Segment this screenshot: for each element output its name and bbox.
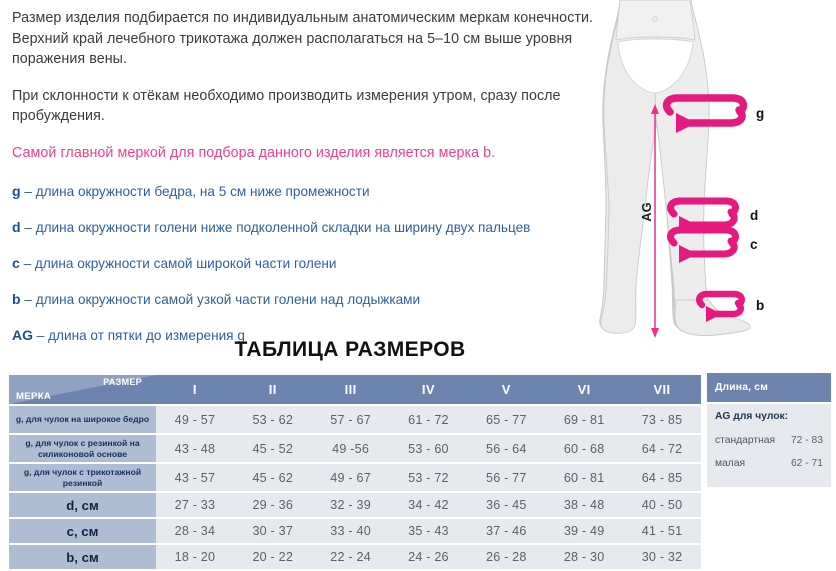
table-row: d, см 27 - 33 29 - 36 32 - 39 34 - 42 36… (9, 493, 701, 517)
table-cell: 41 - 51 (623, 519, 701, 543)
highlight-note: Самой главной меркой для подбора данного… (12, 143, 612, 164)
instructions-text-column: Размер изделия подбирается по индивидуал… (12, 8, 612, 362)
table-cell: 18 - 20 (156, 545, 234, 569)
table-cell: 22 - 24 (312, 545, 390, 569)
table-cell: 60 - 81 (545, 464, 623, 491)
row-label: c, см (9, 519, 156, 543)
table-cell: 37 - 46 (467, 519, 545, 543)
row-label: g, для чулок с трикотажной резинкой (9, 464, 156, 491)
table-cell: 43 - 57 (156, 464, 234, 491)
table-cell: 53 - 72 (390, 464, 468, 491)
definition-dash-g: – (24, 184, 32, 199)
page-title: ТАБЛИЦА РАЗМЕРОВ (0, 338, 700, 362)
row-label: d, см (9, 493, 156, 517)
table-cell: 27 - 33 (156, 493, 234, 517)
table-cell: 45 - 62 (234, 464, 312, 491)
definition-item-c: c – длина окружности самой широкой части… (12, 254, 612, 273)
intro-paragraph-2: При склонности к отёкам необходимо произ… (12, 86, 612, 127)
intro-paragraph-1: Размер изделия подбирается по индивидуал… (12, 8, 612, 70)
table-cell: 38 - 48 (545, 493, 623, 517)
definition-dash-d: – (24, 220, 32, 235)
table-cell: 35 - 43 (390, 519, 468, 543)
table-cell: 73 - 85 (623, 406, 701, 433)
length-row-name: стандартная (715, 435, 775, 446)
table-cell: 28 - 30 (545, 545, 623, 569)
figure-legs (601, 0, 750, 336)
definition-key-b: b (12, 291, 21, 307)
table-cell: 64 - 85 (623, 464, 701, 491)
table-header-row: РАЗМЕР МЕРКА I II III IV V VI VII (9, 375, 701, 404)
definition-key-d: d (12, 219, 21, 235)
definition-key-c: c (12, 255, 20, 271)
definition-item-d: d – длина окружности голени ниже подколе… (12, 218, 612, 237)
measurement-definitions: g – длина окружности бедра, на 5 см ниже… (12, 182, 612, 345)
table-cell: 56 - 77 (467, 464, 545, 491)
row-label: b, см (9, 545, 156, 569)
length-panel-header: Длина, см (707, 373, 831, 402)
definition-dash-c: – (24, 256, 32, 271)
column-header-2: II (234, 375, 312, 404)
definition-text-g: длина окружности бедра, на 5 см ниже про… (36, 184, 370, 199)
figure-label-g: g (756, 106, 764, 121)
table-cell: 60 - 68 (545, 435, 623, 462)
table-row: g, для чулок с трикотажной резинкой 43 -… (9, 464, 701, 491)
table-cell: 39 - 49 (545, 519, 623, 543)
row-label: g, для чулок на широкое бедро (9, 406, 156, 433)
row-label: g, для чулок с резинкой на силиконовой о… (9, 435, 156, 462)
length-panel: Длина, см AG для чулок: стандартная 72 -… (707, 373, 831, 487)
table-cell: 24 - 26 (390, 545, 468, 569)
table-cell: 34 - 42 (390, 493, 468, 517)
table-cell: 26 - 28 (467, 545, 545, 569)
corner-label-size: РАЗМЕР (103, 377, 142, 387)
table-cell: 49 - 67 (312, 464, 390, 491)
leg-measurement-diagram: AG g d c b (598, 0, 836, 345)
column-header-4: IV (390, 375, 468, 404)
table-cell: 40 - 50 (623, 493, 701, 517)
corner-label-measure: МЕРКА (16, 391, 51, 402)
length-row-value: 72 - 83 (791, 435, 823, 446)
figure-label-b: b (756, 298, 764, 313)
table-cell: 36 - 45 (467, 493, 545, 517)
definition-text-c: длина окружности самой широкой части гол… (35, 256, 337, 271)
table-cell: 49 -56 (312, 435, 390, 462)
size-table: РАЗМЕР МЕРКА I II III IV V VI VII g, для… (9, 373, 701, 571)
corner-header-cell: РАЗМЕР МЕРКА (9, 375, 156, 404)
table-cell: 30 - 37 (234, 519, 312, 543)
length-panel-title: AG для чулок: (715, 411, 823, 422)
table-cell: 53 - 60 (390, 435, 468, 462)
definition-dash-b: – (24, 292, 32, 307)
table-cell: 64 - 72 (623, 435, 701, 462)
table-cell: 29 - 36 (234, 493, 312, 517)
column-header-5: V (467, 375, 545, 404)
length-row-small: малая 62 - 71 (715, 458, 823, 469)
column-header-3: III (312, 375, 390, 404)
table-row: b, см 18 - 20 20 - 22 22 - 24 24 - 26 26… (9, 545, 701, 569)
definition-text-b: длина окружности самой узкой части голен… (36, 292, 420, 307)
table-cell: 45 - 52 (234, 435, 312, 462)
definition-key-g: g (12, 183, 21, 199)
column-header-1: I (156, 375, 234, 404)
table-cell: 28 - 34 (156, 519, 234, 543)
table-row: g, для чулок с резинкой на силиконовой о… (9, 435, 701, 462)
column-header-7: VII (623, 375, 701, 404)
table-cell: 65 - 77 (467, 406, 545, 433)
figure-label-c: c (750, 237, 758, 252)
length-row-standard: стандартная 72 - 83 (715, 435, 823, 446)
figure-label-d: d (750, 208, 758, 223)
table-row: c, см 28 - 34 30 - 37 33 - 40 35 - 43 37… (9, 519, 701, 543)
definition-item-b: b – длина окружности самой узкой части г… (12, 290, 612, 309)
table-cell: 33 - 40 (312, 519, 390, 543)
table-cell: 56 - 64 (467, 435, 545, 462)
ag-label: AG (639, 202, 654, 222)
table-cell: 49 - 57 (156, 406, 234, 433)
length-row-name: малая (715, 458, 745, 469)
table-cell: 61 - 72 (390, 406, 468, 433)
table-cell: 30 - 32 (623, 545, 701, 569)
table-cell: 43 - 48 (156, 435, 234, 462)
definition-text-d: длина окружности голени ниже подколенной… (36, 220, 531, 235)
definition-item-g: g – длина окружности бедра, на 5 см ниже… (12, 182, 612, 201)
table-cell: 20 - 22 (234, 545, 312, 569)
table-cell: 32 - 39 (312, 493, 390, 517)
table-cell: 57 - 67 (312, 406, 390, 433)
length-panel-body: AG для чулок: стандартная 72 - 83 малая … (707, 404, 831, 487)
length-row-value: 62 - 71 (791, 458, 823, 469)
table-cell: 69 - 81 (545, 406, 623, 433)
table-cell: 53 - 62 (234, 406, 312, 433)
table-row: g, для чулок на широкое бедро 49 - 57 53… (9, 406, 701, 433)
column-header-6: VI (545, 375, 623, 404)
